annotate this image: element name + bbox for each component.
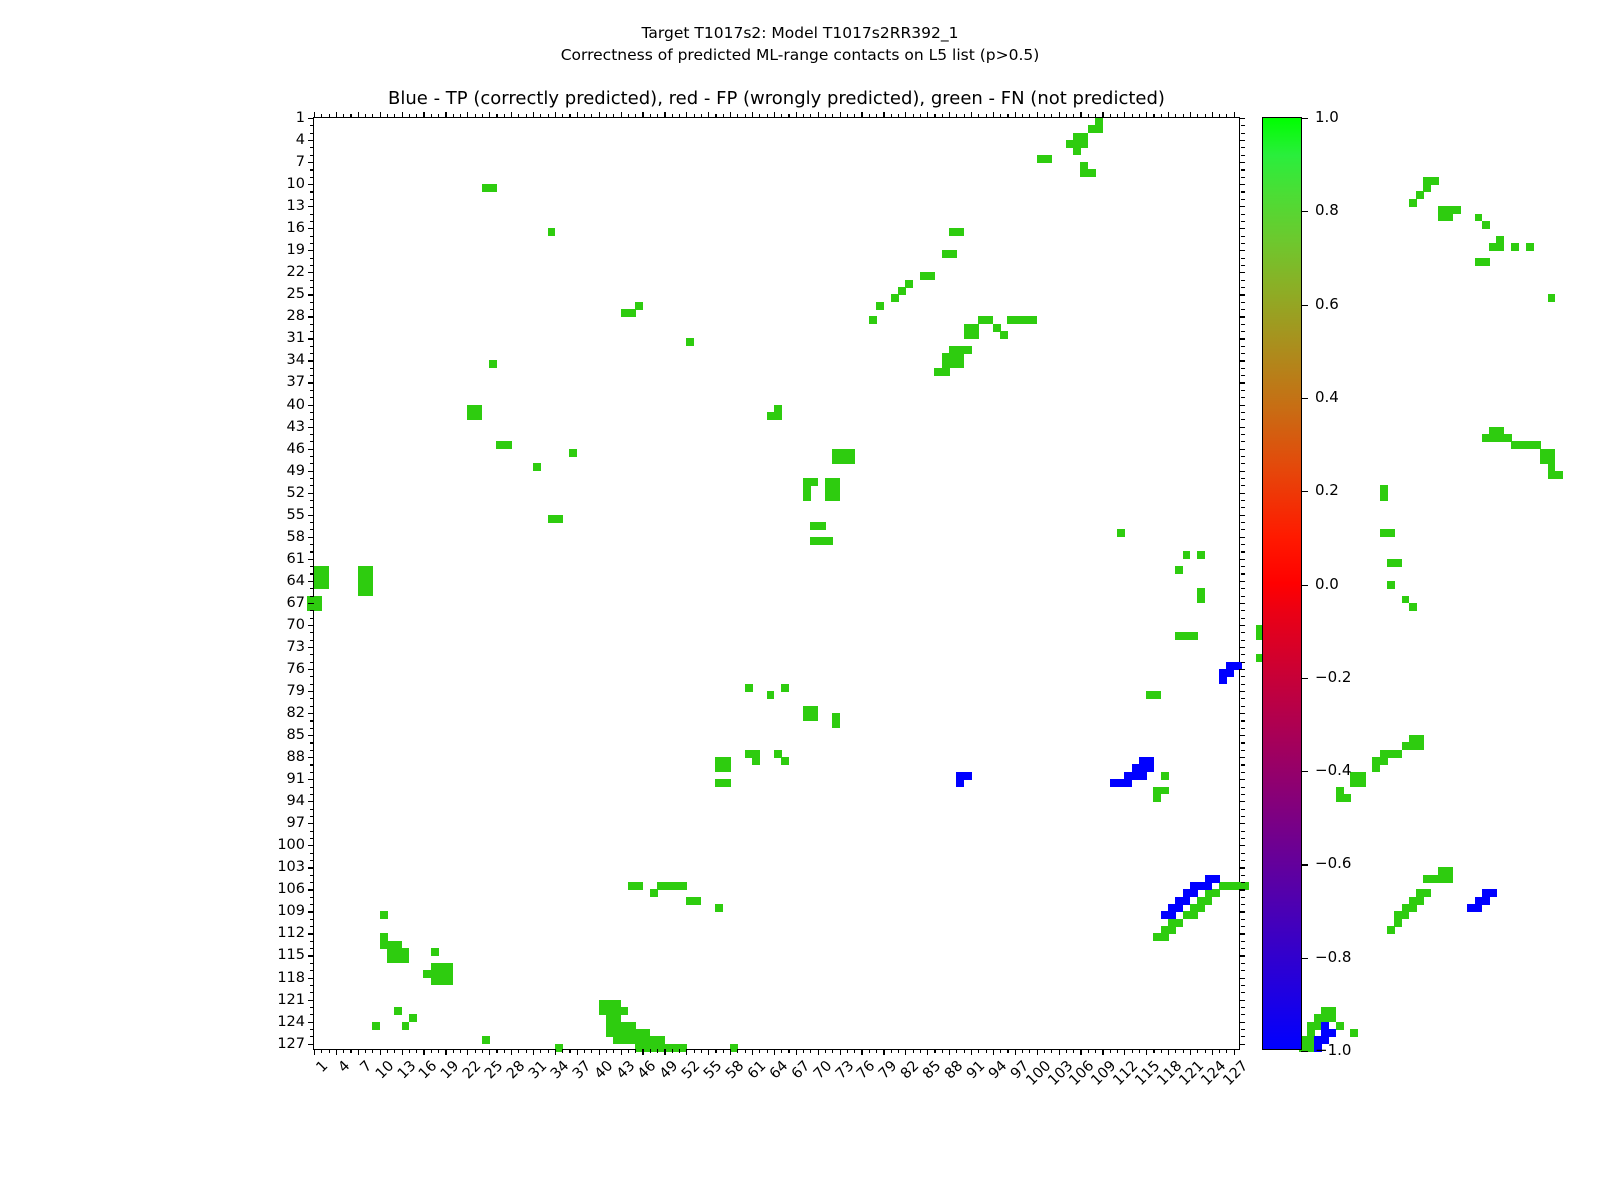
y-axis-label: 52 xyxy=(287,485,305,501)
x-axis-tick xyxy=(810,1049,811,1053)
y-axis-tick xyxy=(310,684,314,685)
y-axis-tick-right xyxy=(1241,860,1245,861)
y-axis-tick xyxy=(308,206,314,207)
y-axis-tick xyxy=(310,919,314,920)
y-axis-label: 43 xyxy=(287,419,305,435)
y-axis-tick xyxy=(310,544,314,545)
y-axis-tick-right xyxy=(1241,941,1245,942)
contact-cell-fn xyxy=(1175,919,1183,927)
x-axis-tick-top xyxy=(715,114,716,118)
y-axis-tick-right xyxy=(1241,573,1245,574)
y-axis-tick-right xyxy=(1239,162,1245,163)
x-axis-tick xyxy=(1168,1049,1169,1055)
contact-cell-fn xyxy=(1190,632,1198,640)
x-axis-tick xyxy=(1059,1049,1060,1055)
y-axis-tick xyxy=(308,184,314,185)
contact-cell-fn xyxy=(942,368,950,376)
y-axis-label: 121 xyxy=(277,992,305,1008)
x-axis-tick-top xyxy=(934,114,935,118)
y-axis-tick xyxy=(310,764,314,765)
y-axis-tick-right xyxy=(1241,280,1245,281)
colorbar-tick xyxy=(1301,771,1308,772)
x-axis-tick xyxy=(818,1049,819,1055)
x-axis-tick xyxy=(1044,1049,1045,1053)
y-axis-tick xyxy=(310,1007,314,1008)
y-axis-tick-right xyxy=(1239,911,1245,912)
y-axis-tick xyxy=(310,728,314,729)
contact-cell-fn xyxy=(1197,904,1205,912)
colorbar-tick xyxy=(1301,958,1308,959)
y-axis-tick-right xyxy=(1239,184,1245,185)
x-axis-tick xyxy=(1015,1049,1016,1055)
x-axis-tick xyxy=(1132,1049,1133,1053)
x-axis-tick-top xyxy=(1037,112,1038,118)
contact-cell-fn xyxy=(1394,559,1402,567)
y-axis-tick xyxy=(308,933,314,934)
y-axis-tick-right xyxy=(1239,823,1245,824)
contact-cell-fn xyxy=(372,1022,380,1030)
y-axis-tick xyxy=(310,155,314,156)
y-axis-label: 76 xyxy=(287,661,305,677)
y-axis-tick xyxy=(308,1044,314,1045)
x-axis-tick-top xyxy=(533,112,534,118)
x-axis-label: 64 xyxy=(767,1058,791,1082)
x-axis-tick xyxy=(1080,1049,1081,1055)
y-axis-tick-right xyxy=(1241,919,1245,920)
y-axis-tick xyxy=(310,551,314,552)
x-axis-label: 37 xyxy=(570,1058,594,1082)
x-axis-tick xyxy=(365,1049,366,1053)
y-axis-tick xyxy=(310,838,314,839)
contact-cell-fn xyxy=(810,478,818,486)
x-axis-tick-top xyxy=(1124,112,1125,118)
x-axis-tick xyxy=(380,1049,381,1055)
y-axis-tick-right xyxy=(1239,360,1245,361)
x-axis-tick xyxy=(715,1049,716,1053)
x-axis-tick-top xyxy=(752,112,753,118)
y-axis-tick xyxy=(308,382,314,383)
contact-cell-fn xyxy=(1161,787,1169,795)
y-axis-tick xyxy=(310,1029,314,1030)
x-axis-tick xyxy=(1110,1049,1111,1053)
y-axis-tick-right xyxy=(1241,816,1245,817)
y-axis-tick-right xyxy=(1241,654,1245,655)
x-axis-tick-top xyxy=(876,114,877,118)
x-axis-tick-top xyxy=(540,114,541,118)
y-axis-tick xyxy=(308,228,314,229)
y-axis-label: 1 xyxy=(296,110,305,126)
y-axis-tick xyxy=(310,419,314,420)
y-axis-tick xyxy=(310,654,314,655)
x-axis-tick xyxy=(402,1049,403,1055)
x-axis-tick-top xyxy=(883,112,884,118)
x-axis-tick-top xyxy=(453,114,454,118)
contact-cell-fn xyxy=(847,456,855,464)
y-axis-tick xyxy=(310,331,314,332)
x-axis-tick-top xyxy=(942,114,943,118)
colorbar-tick-label: −0.6 xyxy=(1315,854,1351,872)
y-axis-label: 64 xyxy=(287,573,305,589)
y-axis-label: 67 xyxy=(287,595,305,611)
x-axis-tick xyxy=(949,1049,950,1055)
y-axis-tick xyxy=(310,720,314,721)
y-axis-tick-right xyxy=(1239,140,1245,141)
x-axis-tick xyxy=(453,1049,454,1053)
x-axis-tick-top xyxy=(1197,114,1198,118)
y-axis-tick-right xyxy=(1241,485,1245,486)
y-axis-tick-right xyxy=(1241,551,1245,552)
x-axis-tick-top xyxy=(1051,114,1052,118)
y-axis-tick-right xyxy=(1239,735,1245,736)
x-axis-tick-top xyxy=(745,114,746,118)
y-axis-tick-right xyxy=(1241,199,1245,200)
contact-cell-fn xyxy=(1387,926,1395,934)
axes-title-legend-text: Blue - TP (correctly predicted), red - F… xyxy=(313,88,1240,109)
contact-cell-fn xyxy=(1372,764,1380,772)
x-axis-tick xyxy=(1088,1049,1089,1053)
contact-cell-tp xyxy=(1482,897,1490,905)
x-axis-tick xyxy=(358,1049,359,1055)
y-axis-label: 100 xyxy=(277,837,305,853)
x-axis-tick-top xyxy=(1205,114,1206,118)
colorbar-tick-label: 0.2 xyxy=(1315,481,1339,499)
y-axis-tick xyxy=(310,897,314,898)
y-axis-tick xyxy=(310,133,314,134)
y-axis-label: 94 xyxy=(287,793,305,809)
y-axis-tick xyxy=(310,640,314,641)
x-axis-tick-top xyxy=(781,114,782,118)
y-axis-tick xyxy=(308,735,314,736)
x-axis-tick-top xyxy=(686,112,687,118)
x-axis-tick xyxy=(650,1049,651,1053)
contact-cell-fn xyxy=(489,184,497,192)
contact-cell-fn xyxy=(1073,147,1081,155)
colorbar-tick xyxy=(1301,678,1308,679)
x-axis-tick-top xyxy=(613,114,614,118)
x-axis-tick xyxy=(934,1049,935,1053)
y-axis-tick-right xyxy=(1239,889,1245,890)
x-axis-tick xyxy=(555,1049,556,1055)
x-axis-tick xyxy=(1037,1049,1038,1055)
x-axis-tick xyxy=(1205,1049,1206,1053)
contact-cell-fn xyxy=(825,537,833,545)
x-axis-tick xyxy=(635,1049,636,1053)
x-axis-tick xyxy=(752,1049,753,1055)
y-axis-tick xyxy=(310,632,314,633)
contact-cell-fn xyxy=(752,757,760,765)
y-axis-tick-right xyxy=(1241,125,1245,126)
contact-cell-fn xyxy=(635,302,643,310)
y-axis-label: 88 xyxy=(287,749,305,765)
y-axis-tick-right xyxy=(1241,632,1245,633)
y-axis-label: 73 xyxy=(287,639,305,655)
x-axis-label: 88 xyxy=(942,1058,966,1082)
x-axis-tick-top xyxy=(387,114,388,118)
x-axis-tick-top xyxy=(664,112,665,118)
y-axis-tick xyxy=(310,1036,314,1037)
x-axis-tick-top xyxy=(599,112,600,118)
contact-cell-fn xyxy=(1117,529,1125,537)
x-axis-tick xyxy=(664,1049,665,1055)
x-axis-tick xyxy=(905,1049,906,1055)
y-axis-tick-right xyxy=(1241,992,1245,993)
y-axis-tick xyxy=(308,316,314,317)
x-axis-tick-top xyxy=(1161,114,1162,118)
y-axis-tick xyxy=(310,588,314,589)
x-axis-tick-top xyxy=(1132,114,1133,118)
x-axis-tick xyxy=(1226,1049,1227,1053)
contact-cell-fn xyxy=(1394,919,1402,927)
x-axis-tick xyxy=(387,1049,388,1053)
contact-cell-fn xyxy=(1350,1029,1358,1037)
y-axis-tick-right xyxy=(1239,559,1245,560)
x-axis-tick-top xyxy=(818,112,819,118)
x-axis-tick xyxy=(657,1049,658,1053)
y-axis-tick-right xyxy=(1239,493,1245,494)
x-axis-tick-top xyxy=(898,114,899,118)
y-axis-tick-right xyxy=(1239,713,1245,714)
y-axis-tick xyxy=(310,309,314,310)
contact-cell-fn xyxy=(548,228,556,236)
y-axis-tick-right xyxy=(1241,309,1245,310)
y-axis-label: 31 xyxy=(287,330,305,346)
x-axis-tick xyxy=(825,1049,826,1053)
x-axis-tick xyxy=(599,1049,600,1055)
contact-cell-fn xyxy=(628,309,636,317)
y-axis-tick-right xyxy=(1239,405,1245,406)
x-axis-tick-top xyxy=(336,112,337,118)
contact-cell-fn xyxy=(1423,889,1431,897)
x-axis-tick-top xyxy=(511,112,512,118)
y-axis-tick xyxy=(310,853,314,854)
x-axis-tick xyxy=(796,1049,797,1055)
contact-cell-fn xyxy=(635,882,643,890)
x-axis-tick-top xyxy=(445,112,446,118)
y-axis-tick xyxy=(310,169,314,170)
y-axis-label: 106 xyxy=(277,881,305,897)
y-axis-tick xyxy=(310,368,314,369)
y-axis-tick xyxy=(310,676,314,677)
y-axis-tick xyxy=(310,809,314,810)
y-axis-tick xyxy=(310,596,314,597)
x-axis-tick-top xyxy=(365,114,366,118)
y-axis-tick-right xyxy=(1241,838,1245,839)
contact-cell-fn xyxy=(1394,750,1402,758)
y-axis-label: 58 xyxy=(287,529,305,545)
x-axis-tick-top xyxy=(1000,114,1001,118)
contact-cell-fn xyxy=(504,441,512,449)
x-axis-tick-top xyxy=(927,112,928,118)
contact-cell-fn xyxy=(1190,911,1198,919)
y-axis-tick-right xyxy=(1241,618,1245,619)
y-axis-tick xyxy=(310,948,314,949)
contact-cell-fn xyxy=(1555,471,1563,479)
x-axis-tick xyxy=(745,1049,746,1053)
x-axis-tick xyxy=(913,1049,914,1053)
y-axis-tick-right xyxy=(1241,720,1245,721)
y-axis-tick xyxy=(308,603,314,604)
contact-cell-fn xyxy=(869,316,877,324)
y-axis-tick-right xyxy=(1239,294,1245,295)
x-axis-tick xyxy=(701,1049,702,1053)
y-axis-tick xyxy=(310,860,314,861)
y-axis-label: 7 xyxy=(296,154,305,170)
x-axis-label: 31 xyxy=(526,1058,550,1082)
y-axis-label: 82 xyxy=(287,705,305,721)
x-axis-label: 4 xyxy=(335,1058,353,1076)
contact-cell-fn xyxy=(1161,933,1169,941)
y-axis-label: 70 xyxy=(287,617,305,633)
y-axis-tick xyxy=(308,250,314,251)
contact-cell-fn xyxy=(1482,221,1490,229)
contact-cell-fn xyxy=(409,1014,417,1022)
x-axis-tick xyxy=(1175,1049,1176,1053)
x-axis-tick xyxy=(1212,1049,1213,1055)
x-axis-tick-top xyxy=(650,114,651,118)
y-axis-label: 28 xyxy=(287,308,305,324)
x-axis-tick-top xyxy=(1146,112,1147,118)
x-axis-tick xyxy=(548,1049,549,1053)
x-axis-tick-top xyxy=(321,114,322,118)
y-axis-tick-right xyxy=(1241,287,1245,288)
x-axis-tick xyxy=(1183,1049,1184,1053)
x-axis-tick xyxy=(1190,1049,1191,1055)
x-axis-tick-top xyxy=(993,112,994,118)
y-axis-tick xyxy=(308,581,314,582)
contact-cell-tp xyxy=(1175,904,1183,912)
y-axis-tick xyxy=(310,507,314,508)
contact-cell-tp xyxy=(1329,1029,1337,1037)
contact-cell-fn xyxy=(1175,566,1183,574)
contact-cell-tp xyxy=(1146,764,1154,772)
x-axis-label: 40 xyxy=(592,1058,616,1082)
y-axis-tick-right xyxy=(1241,640,1245,641)
x-axis-tick xyxy=(708,1049,709,1055)
x-axis-tick xyxy=(1095,1049,1096,1053)
x-axis-label: 70 xyxy=(811,1058,835,1082)
y-axis-tick xyxy=(310,970,314,971)
contact-cell-fn xyxy=(1343,794,1351,802)
y-axis-tick xyxy=(308,360,314,361)
contact-cell-fn xyxy=(898,287,906,295)
x-axis-tick-top xyxy=(1226,114,1227,118)
y-axis-tick xyxy=(308,449,314,450)
contact-cell-tp xyxy=(1168,911,1176,919)
y-axis-tick-right xyxy=(1241,522,1245,523)
y-axis-tick-right xyxy=(1239,316,1245,317)
y-axis-tick-right xyxy=(1241,434,1245,435)
x-axis-tick xyxy=(723,1049,724,1053)
x-axis-tick-top xyxy=(847,114,848,118)
colorbar-tick xyxy=(1301,864,1308,865)
contact-cell-fn xyxy=(1482,258,1490,266)
y-axis-tick-right xyxy=(1239,603,1245,604)
x-axis-tick-top xyxy=(1059,112,1060,118)
x-axis-tick xyxy=(569,1049,570,1053)
contact-cell-fn xyxy=(1416,897,1424,905)
y-axis-tick xyxy=(308,867,314,868)
x-axis-tick xyxy=(774,1049,775,1055)
x-axis-tick-top xyxy=(767,114,768,118)
y-axis-tick xyxy=(310,742,314,743)
colorbar-tick-label: 1.0 xyxy=(1315,108,1339,126)
x-axis-tick-top xyxy=(1066,114,1067,118)
x-axis-tick xyxy=(759,1049,760,1053)
contact-cell-fn xyxy=(1409,199,1417,207)
x-axis-tick xyxy=(854,1049,855,1053)
y-axis-tick-right xyxy=(1239,537,1245,538)
figure-title-block: Target T1017s2: Model T1017s2RR392_1 Cor… xyxy=(0,22,1600,66)
y-axis-tick-right xyxy=(1241,566,1245,567)
y-axis-label: 61 xyxy=(287,551,305,567)
y-axis-tick-right xyxy=(1241,596,1245,597)
x-axis-tick xyxy=(475,1049,476,1053)
y-axis-tick-right xyxy=(1241,809,1245,810)
contact-cell-fn xyxy=(1095,125,1103,133)
x-axis-tick xyxy=(788,1049,789,1053)
x-axis-tick xyxy=(496,1049,497,1053)
contact-cell-fn xyxy=(475,412,483,420)
y-axis-tick-right xyxy=(1239,1044,1245,1045)
y-axis-tick xyxy=(310,985,314,986)
x-axis-tick-top xyxy=(694,114,695,118)
y-axis-tick-right xyxy=(1241,169,1245,170)
contact-cell-fn xyxy=(723,779,731,787)
x-axis-tick xyxy=(672,1049,673,1053)
y-axis-tick-right xyxy=(1241,221,1245,222)
y-axis-tick xyxy=(310,566,314,567)
x-axis-tick-top xyxy=(723,114,724,118)
x-axis-tick xyxy=(438,1049,439,1053)
y-axis-tick-right xyxy=(1241,390,1245,391)
y-axis-tick xyxy=(310,750,314,751)
y-axis-tick xyxy=(310,236,314,237)
x-axis-tick xyxy=(350,1049,351,1053)
y-axis-tick xyxy=(310,390,314,391)
y-axis-tick-right xyxy=(1241,529,1245,530)
x-axis-tick-top xyxy=(708,112,709,118)
y-axis-tick xyxy=(310,772,314,773)
x-axis-tick xyxy=(993,1049,994,1055)
contact-cell-fn xyxy=(715,904,723,912)
x-axis-tick xyxy=(964,1049,965,1053)
y-axis-tick-right xyxy=(1241,963,1245,964)
colorbar-tick-label: 0.4 xyxy=(1315,388,1339,406)
y-axis-tick xyxy=(310,926,314,927)
x-axis-tick xyxy=(920,1049,921,1053)
x-axis-tick xyxy=(628,1049,629,1053)
y-axis-tick-right xyxy=(1241,1029,1245,1030)
x-axis-tick-top xyxy=(920,114,921,118)
x-axis-tick-top xyxy=(314,112,315,118)
x-axis-label: 55 xyxy=(701,1058,725,1082)
x-axis-tick-top xyxy=(562,114,563,118)
y-axis-tick-right xyxy=(1241,236,1245,237)
x-axis-tick xyxy=(927,1049,928,1055)
y-axis-tick xyxy=(310,214,314,215)
y-axis-tick xyxy=(308,405,314,406)
y-axis-tick xyxy=(310,831,314,832)
x-axis-tick-top xyxy=(840,112,841,118)
y-axis-tick-right xyxy=(1239,449,1245,450)
x-axis-tick xyxy=(1051,1049,1052,1053)
x-axis-tick-top xyxy=(1044,114,1045,118)
contact-cell-fn xyxy=(1445,875,1453,883)
y-axis-tick xyxy=(310,698,314,699)
y-axis-label: 10 xyxy=(287,176,305,192)
y-axis-label: 25 xyxy=(287,286,305,302)
y-axis-tick xyxy=(308,1022,314,1023)
